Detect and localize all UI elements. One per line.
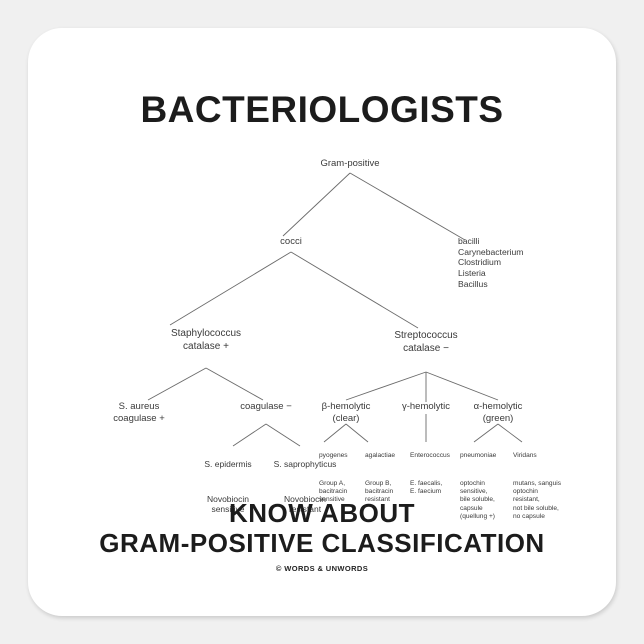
spacer xyxy=(365,469,409,472)
square-sticker: BACTERIOLOGISTS xyxy=(28,28,616,616)
node-enterococcus: Enterococcus E. faecalis, E. faecium xyxy=(410,444,460,505)
node-coagulase-negative: coagulase − xyxy=(240,401,292,413)
spacer xyxy=(513,469,575,472)
node-bacilli-group: bacilli Carynebacterium Clostridium List… xyxy=(458,236,523,290)
screenshot-canvas: BACTERIOLOGISTS xyxy=(0,0,644,644)
node-enterococcus-detail: E. faecalis, E. faecium xyxy=(410,480,460,496)
node-pneumoniae-name: pneumoniae xyxy=(460,452,510,460)
spacer xyxy=(410,469,460,472)
spacer xyxy=(460,469,510,472)
page-subtitle-line1: KNOW ABOUT xyxy=(28,498,616,528)
node-s-epidermis-name: S. epidermis xyxy=(204,459,251,470)
node-s-aureus: S. aureus coagulase + xyxy=(113,401,165,425)
page-subtitle: KNOW ABOUT GRAM-POSITIVE CLASSIFICATION xyxy=(28,498,616,558)
spacer xyxy=(319,469,363,472)
copyright-credit: © WORDS & UNWORDS xyxy=(28,564,616,573)
node-gram-positive: Gram-positive xyxy=(320,158,379,170)
node-viridans-name: Viridans xyxy=(513,452,575,460)
spacer xyxy=(204,480,251,483)
node-staphylococcus: Staphylococcus catalase + xyxy=(171,328,241,353)
node-cocci: cocci xyxy=(280,236,302,248)
node-agalactiae-name: agalactiae xyxy=(365,452,409,460)
node-beta-hemolytic: β-hemolytic (clear) xyxy=(322,401,371,425)
page-subtitle-line2: GRAM-POSITIVE CLASSIFICATION xyxy=(28,528,616,558)
node-alpha-hemolytic: α-hemolytic (green) xyxy=(474,401,523,425)
node-gamma-hemolytic: γ-hemolytic xyxy=(402,401,450,413)
sticker-content: BACTERIOLOGISTS xyxy=(28,28,616,616)
node-streptococcus: Streptococcus catalase − xyxy=(394,330,457,355)
node-pyogenes-name: pyogenes xyxy=(319,452,363,460)
node-enterococcus-name: Enterococcus xyxy=(410,452,460,460)
